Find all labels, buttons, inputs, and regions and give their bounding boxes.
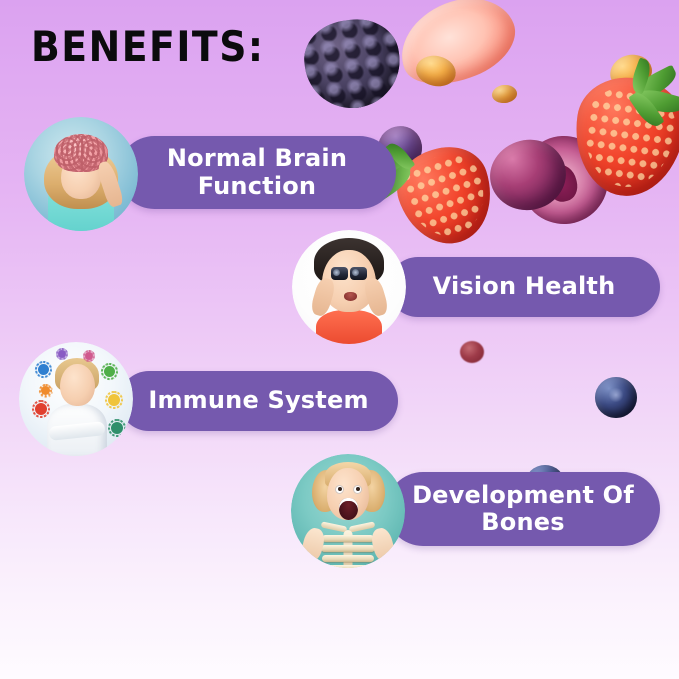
strawberry-slice-icon	[388, 0, 527, 99]
plum-whole-icon	[484, 134, 571, 216]
germ-icon-red	[35, 403, 47, 415]
benefits-poster: BENEFITS: Normal Brain Function Vision H…	[0, 0, 679, 679]
child-eye-left	[335, 485, 344, 494]
strawberry-left-icon	[387, 136, 504, 256]
benefit-label: Vision Health	[419, 273, 630, 300]
benefit-label: Immune System	[134, 387, 382, 414]
plum-cut-icon	[511, 127, 618, 234]
mini-berry-icon	[460, 341, 484, 363]
germ-icon-pink	[85, 352, 93, 360]
goldenberry-top-icon	[607, 50, 656, 93]
benefit-image-immune-system	[19, 342, 133, 456]
child-head	[60, 364, 95, 406]
benefit-image-development-of-bones	[291, 454, 405, 568]
binoculars-icon	[331, 267, 367, 280]
benefit-label: Normal Brain Function	[153, 145, 361, 200]
skeleton-ribcage-graphic	[317, 524, 379, 568]
germ-icon-orange	[41, 386, 50, 395]
benefit-pill-vision-health[interactable]: Vision Health	[388, 257, 660, 317]
child-torso	[316, 310, 382, 344]
benefit-label: Development Of Bones	[398, 482, 648, 537]
blackberry-icon	[299, 14, 405, 114]
germ-icon-violet	[58, 350, 66, 358]
benefit-pill-normal-brain-function[interactable]: Normal Brain Function	[118, 136, 396, 209]
child-mouth	[344, 292, 357, 301]
blueberry-right-icon	[595, 377, 637, 418]
goldenberry-left-icon	[413, 52, 458, 90]
child-eye-right	[353, 485, 362, 494]
benefit-pill-development-of-bones[interactable]: Development Of Bones	[386, 472, 660, 546]
benefit-image-normal-brain-function	[24, 117, 138, 231]
strawberry-right-icon	[567, 71, 679, 203]
germ-icon-green	[104, 366, 115, 377]
germ-icon-teal	[111, 422, 123, 434]
child-mouth-open	[339, 498, 358, 520]
benefit-pill-immune-system[interactable]: Immune System	[119, 371, 398, 431]
germ-icon-blue	[38, 364, 49, 375]
germ-icon-yellow	[108, 394, 120, 406]
benefit-image-vision-health	[292, 230, 406, 344]
page-title: BENEFITS:	[31, 26, 265, 68]
goldenberry-small-icon	[491, 84, 518, 105]
